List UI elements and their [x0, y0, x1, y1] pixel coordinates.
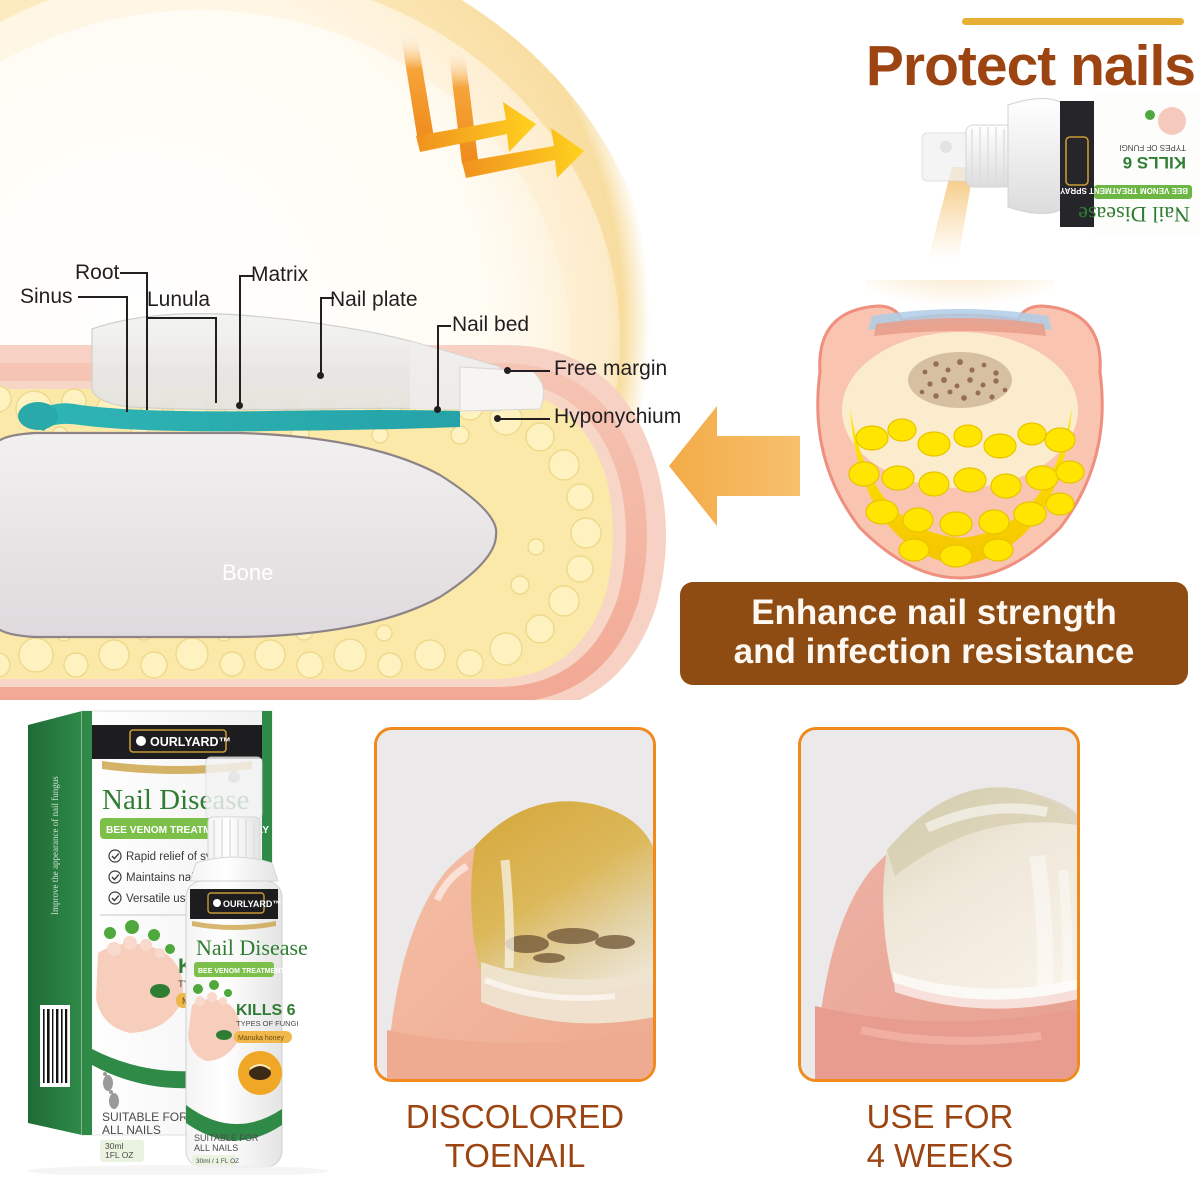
- after-caption: USE FOR 4 WEEKS: [795, 1098, 1085, 1176]
- bottle-product-subtitle: BEE VENOM TREATMENT SPRAY: [198, 968, 310, 975]
- label-matrix: Matrix: [251, 263, 308, 287]
- box-bullet-3: Versatile use: [126, 893, 192, 905]
- leader-nail-bed-h: [437, 325, 451, 327]
- bottle-kills-line2: TYPES OF FUNGI: [236, 1019, 299, 1028]
- inverted-spray-bottle: OURLYARD Nail Disease BEE VENOM TREATMEN…: [900, 85, 1200, 260]
- leader-root-h: [120, 272, 146, 274]
- nail-anatomy-diagram: Bone Sinus Root Lunula Matrix Nail plate…: [0, 0, 700, 700]
- barcode-icon: [40, 1005, 70, 1087]
- bone-label: Bone: [222, 560, 273, 586]
- box-brand-name: OURLYARD™: [150, 735, 231, 749]
- foot-icon: [213, 899, 221, 907]
- after-caption-line-2: 4 WEEKS: [795, 1137, 1085, 1176]
- fungal-infection-spot: [908, 352, 1012, 408]
- box-suitable-line1: SUITABLE FOR: [102, 1110, 188, 1124]
- leader-free-margin: [510, 370, 550, 372]
- promo-image-root: Bone Sinus Root Lunula Matrix Nail plate…: [0, 0, 1200, 1200]
- box-side-text: Improve the appearance of nail fungus: [50, 776, 60, 915]
- infected-toe-cross-section: [760, 280, 1160, 580]
- leader-hyponychium: [500, 418, 550, 420]
- label-root: Root: [75, 261, 119, 285]
- svg-text:Nail Disease: Nail Disease: [1078, 202, 1190, 227]
- leader-lunula-top: [146, 317, 216, 319]
- svg-text:TYPES OF FUNGI: TYPES OF FUNGI: [1119, 143, 1186, 152]
- bottle-volume: 30ml / 1 FL OZ: [196, 1158, 239, 1165]
- leader-sinus: [126, 296, 128, 412]
- bottle-product-title: Nail Disease: [196, 935, 308, 960]
- before-photo: [374, 727, 656, 1082]
- leader-nail-bed: [437, 325, 439, 409]
- leader-matrix: [239, 275, 241, 405]
- germ-icon: [1145, 110, 1155, 120]
- product-packshot: OURLYARD™ Nail Disease BEE VENOM TREATME…: [10, 705, 370, 1175]
- svg-text:BEE VENOM TREATMENT SPRAY: BEE VENOM TREATMENT SPRAY: [1059, 186, 1188, 195]
- before-caption-line-1: DISCOLORED: [370, 1098, 660, 1137]
- label-lunula: Lunula: [147, 288, 210, 312]
- before-caption: DISCOLORED TOENAIL: [370, 1098, 660, 1176]
- dot-free-margin: [504, 367, 511, 374]
- foot-icon: [136, 736, 146, 746]
- after-caption-line-1: USE FOR: [795, 1098, 1085, 1137]
- leader-sinus-h: [78, 296, 126, 298]
- dot-hyponychium: [494, 415, 501, 422]
- svg-text:KILLS 6: KILLS 6: [1123, 153, 1186, 172]
- bottle-honey-badge: Manuka honey: [238, 1035, 284, 1042]
- bottle-brand-name: OURLYARD™: [223, 899, 281, 909]
- bottle-kills-line1: KILLS 6: [236, 1002, 296, 1019]
- headline-rule: [962, 18, 1184, 25]
- bottle-suitable-line1: SUITABLE FOR: [194, 1133, 259, 1143]
- label-sinus: Sinus: [20, 285, 73, 309]
- dot-nail-plate: [317, 372, 324, 379]
- dot-nail-bed: [434, 406, 441, 413]
- leader-nail-plate: [320, 297, 322, 375]
- box-volume-line2: 1FL OZ: [105, 1150, 134, 1160]
- benefit-banner: Enhance nail strength and infection resi…: [680, 582, 1188, 685]
- label-hyponychium: Hyponychium: [554, 405, 681, 429]
- box-suitable-line2: ALL NAILS: [102, 1123, 161, 1137]
- arrow-left-icon: [665, 400, 800, 530]
- deflected-arrow-icon: [370, 10, 660, 190]
- banner-line-2: and infection resistance: [694, 632, 1174, 671]
- label-nail-plate: Nail plate: [330, 288, 418, 312]
- before-caption-line-2: TOENAIL: [370, 1137, 660, 1176]
- dot-matrix: [236, 402, 243, 409]
- leader-lunula-l: [146, 317, 148, 357]
- label-nail-bed: Nail bed: [452, 313, 529, 337]
- after-photo: [798, 727, 1080, 1082]
- banner-line-1: Enhance nail strength: [694, 593, 1174, 632]
- leader-lunula-r: [215, 317, 217, 403]
- toe-cross-section-illustration: [0, 285, 700, 700]
- bottle-suitable-line2: ALL NAILS: [194, 1143, 238, 1153]
- label-free-margin: Free margin: [554, 357, 667, 381]
